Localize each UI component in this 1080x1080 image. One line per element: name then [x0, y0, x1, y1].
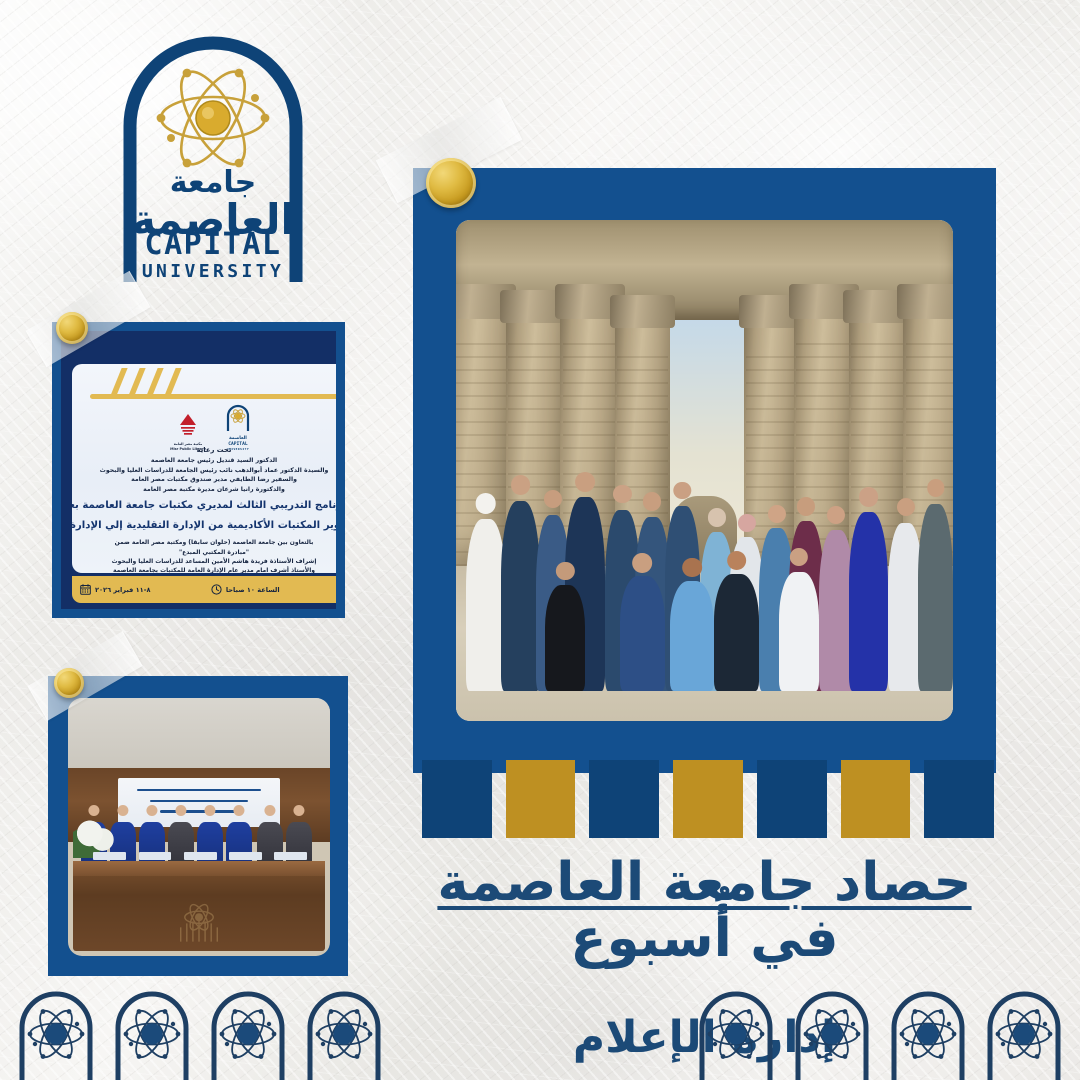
calendar-icon [80, 584, 91, 595]
atom-arch-icon [790, 984, 874, 1080]
flyer-time: الساعة ١٠ صباحا [211, 584, 280, 595]
swatch-7 [924, 760, 994, 838]
gold-pin-icon-conference [54, 668, 84, 698]
flyer-supervision-2: والأستاذ أشرف امام مدير عام الإدارة العا… [74, 566, 336, 573]
flyer-subtitle: بالتعاون بين جامعة العاصمة (حلوان سابقا)… [74, 538, 336, 548]
atom-icon [157, 62, 270, 173]
flyer-patron-3: والسفير رضا الطايفي مدير صندوق مكتبات مص… [74, 475, 336, 485]
logo-latin-line1: CAPITAL [145, 227, 282, 262]
flyer-title-line-1: البرنامج التدريبي الثالث لمديري مكتبات ج… [74, 499, 336, 514]
gold-pin-icon-main [426, 158, 476, 208]
headline-line-1: حصاد جامعة العاصمة [413, 855, 996, 911]
color-swatch-strip [422, 760, 994, 838]
atom-arch-icon [694, 984, 778, 1080]
podium-desk [73, 861, 325, 951]
training-program-flyer[interactable]: مكتبة مصر العامة Misr Public Library الع… [52, 322, 345, 618]
headline-line-2: في أُسبوع [413, 911, 996, 967]
swatch-6 [841, 760, 911, 838]
clock-icon [211, 584, 222, 595]
atom-arch-icon [302, 984, 386, 1080]
swatch-5 [757, 760, 827, 838]
flyer-initiative-quote: "مبادرة المكتبي المبدع" [74, 549, 336, 556]
conference-panel-photo [68, 698, 330, 956]
logo-latin-line2: UNIVERSITY [142, 261, 284, 282]
podium-crest-icon [161, 901, 236, 942]
atom-arch-icon [206, 984, 290, 1080]
flyer-patron-label: تحت رعاية [74, 446, 336, 454]
luxor-group-photo [456, 220, 953, 721]
flyer-patron-4: والدكتورة رانيا شرعان مديرة مكتبة مصر ال… [74, 485, 336, 495]
flyer-title-line-2: تطوير المكتبات الأكاديمية من الإدارة الت… [74, 519, 336, 534]
atom-arch-decoration-left [14, 984, 386, 1080]
flyer-date-text: ٨-١١ فبراير ٢٠٢٦ [95, 586, 151, 594]
flyer-date: ٨-١١ فبراير ٢٠٢٦ [80, 584, 151, 595]
gold-rule [90, 394, 336, 399]
flyer-time-text: الساعة ١٠ صباحا [226, 586, 280, 594]
atom-arch-icon [110, 984, 194, 1080]
atom-arch-icon [14, 984, 98, 1080]
atom-arch-icon [886, 984, 970, 1080]
swatch-2 [506, 760, 576, 838]
page-title: حصاد جامعة العاصمة في أُسبوع [413, 855, 996, 967]
flyer-supervision-1: إشراف الأستاذة فريدة هاشم الأمين المساعد… [74, 557, 336, 567]
swatch-4 [673, 760, 743, 838]
luxor-group-photo-card[interactable] [413, 168, 996, 773]
flyer-patron-1: الدكتور السيد قنديل رئيس جامعة العاصمة [74, 456, 336, 466]
atom-arch-icon [982, 984, 1066, 1080]
capital-university-logo: جامعة العاصمة CAPITAL UNIVERSITY [108, 22, 318, 282]
gold-stripe-decoration [116, 368, 236, 396]
flyer-footer: الساعة ١٠ صباحا ٨-١١ فبراير ٢٠٢٦ [72, 576, 336, 603]
atom-arch-decoration-right [694, 984, 1066, 1080]
group-of-people [456, 471, 953, 691]
gold-pin-icon-flyer [56, 312, 88, 344]
swatch-1 [422, 760, 492, 838]
flyer-patron-2: والسيدة الدكتور عماد أبوالدهب نائب رئيس … [74, 466, 336, 476]
swatch-3 [589, 760, 659, 838]
conference-panel-photo-card[interactable] [48, 676, 348, 976]
capital-university-logo-small: العاصمة CAPITAL UNIVERSITY [224, 404, 252, 451]
